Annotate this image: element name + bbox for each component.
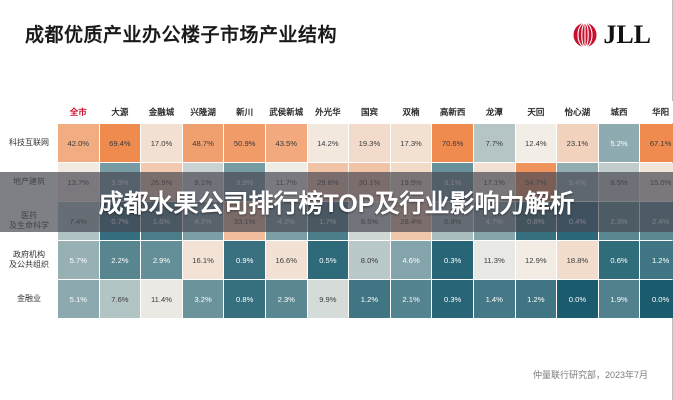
- heatmap-cell: 0.6%: [599, 241, 640, 279]
- heatmap-cell: 11.4%: [141, 280, 182, 318]
- heatmap-cell: 9.9%: [308, 280, 349, 318]
- overlay-banner-text: 成都水果公司排行榜TOP及行业影响力解析: [99, 184, 575, 220]
- heatmap-cell: 16.1%: [183, 241, 224, 279]
- column-header-12: 怡心湖: [557, 101, 598, 123]
- row-label-3: 政府机构及公共组织: [1, 241, 57, 279]
- heatmap-cell: 0.8%: [224, 280, 265, 318]
- table-header: 全市大源金融城兴隆湖新川武侯新城外光华国宾双楠高新西龙潭天回怡心湖城西华阳: [1, 101, 673, 123]
- source-note: 仲量联行研究部，2023年7月: [533, 368, 648, 381]
- heatmap-cell: 12.4%: [516, 124, 557, 162]
- heatmap-cell: 0.3%: [432, 280, 473, 318]
- heatmap-cell: 2.3%: [266, 280, 307, 318]
- heatmap-cell: 18.8%: [557, 241, 598, 279]
- heatmap-cell: 0.0%: [640, 280, 673, 318]
- table-row: 科技互联网42.0%69.4%17.0%48.7%50.9%43.5%14.2%…: [1, 124, 673, 162]
- jll-logo: JLL: [570, 20, 651, 50]
- heatmap-cell: 11.3%: [474, 241, 515, 279]
- heatmap-cell: 17.0%: [141, 124, 182, 162]
- heatmap-cell: 2.9%: [141, 241, 182, 279]
- column-header-13: 城西: [599, 101, 640, 123]
- jll-logo-text: JLL: [603, 22, 651, 48]
- heatmap-cell: 19.3%: [349, 124, 390, 162]
- heatmap-cell: 7.6%: [100, 280, 141, 318]
- card-header: 成都优质产业办公楼子市场产业结构 JLL: [0, 0, 673, 72]
- column-header-8: 双楠: [391, 101, 432, 123]
- heatmap-cell: 17.3%: [391, 124, 432, 162]
- heatmap-cell: 69.4%: [100, 124, 141, 162]
- heatmap-cell: 42.0%: [58, 124, 99, 162]
- heatmap-cell: 5.7%: [58, 241, 99, 279]
- heatmap-cell: 0.0%: [557, 280, 598, 318]
- heatmap-cell: 50.9%: [224, 124, 265, 162]
- column-header-6: 外光华: [308, 101, 349, 123]
- heatmap-cell: 48.7%: [183, 124, 224, 162]
- column-header-0: 全市: [58, 101, 99, 123]
- heatmap-cell: 1.2%: [640, 241, 673, 279]
- heatmap-cell: 1.4%: [474, 280, 515, 318]
- table-row: 政府机构及公共组织5.7%2.2%2.9%16.1%0.9%16.6%0.5%8…: [1, 241, 673, 279]
- heatmap-cell: 7.7%: [474, 124, 515, 162]
- heatmap-cell: 5.1%: [58, 280, 99, 318]
- row-label-0: 科技互联网: [1, 124, 57, 162]
- heatmap-cell: 70.6%: [432, 124, 473, 162]
- column-header-3: 兴隆湖: [183, 101, 224, 123]
- column-header-4: 新川: [224, 101, 265, 123]
- page-title: 成都优质产业办公楼子市场产业结构: [25, 20, 337, 47]
- column-header-10: 龙潭: [474, 101, 515, 123]
- heatmap-cell: 12.9%: [516, 241, 557, 279]
- heatmap-cell: 43.5%: [266, 124, 307, 162]
- heatmap-cell: 1.2%: [349, 280, 390, 318]
- column-header-row: 全市大源金融城兴隆湖新川武侯新城外光华国宾双楠高新西龙潭天回怡心湖城西华阳: [1, 101, 673, 123]
- table-corner-cell: [1, 101, 57, 123]
- heatmap-cell: 0.9%: [224, 241, 265, 279]
- column-header-7: 国宾: [349, 101, 390, 123]
- table-row: 金融业5.1%7.6%11.4%3.2%0.8%2.3%9.9%1.2%2.1%…: [1, 280, 673, 318]
- row-label-4: 金融业: [1, 280, 57, 318]
- column-header-11: 天回: [516, 101, 557, 123]
- heatmap-cell: 0.5%: [308, 241, 349, 279]
- heatmap-cell: 3.2%: [183, 280, 224, 318]
- jll-globe-icon: [570, 20, 600, 50]
- heatmap-cell: 0.3%: [432, 241, 473, 279]
- overlay-banner: 成都水果公司排行榜TOP及行业影响力解析: [0, 172, 673, 232]
- heatmap-cell: 1.9%: [599, 280, 640, 318]
- column-header-2: 金融城: [141, 101, 182, 123]
- heatmap-cell: 16.6%: [266, 241, 307, 279]
- heatmap-cell: 67.1%: [640, 124, 673, 162]
- heatmap-cell: 2.1%: [391, 280, 432, 318]
- heatmap-cell: 1.2%: [516, 280, 557, 318]
- column-header-14: 华阳: [640, 101, 673, 123]
- heatmap-cell: 8.0%: [349, 241, 390, 279]
- heatmap-cell: 14.2%: [308, 124, 349, 162]
- column-header-5: 武侯新城: [266, 101, 307, 123]
- chart-card: 成都优质产业办公楼子市场产业结构 JLL 全市大源金融城兴隆湖新川武侯新城外光华…: [0, 0, 673, 400]
- heatmap-cell: 23.1%: [557, 124, 598, 162]
- heatmap-cell: 2.2%: [100, 241, 141, 279]
- heatmap-cell: 5.2%: [599, 124, 640, 162]
- heatmap-cell: 4.6%: [391, 241, 432, 279]
- column-header-9: 高新西: [432, 101, 473, 123]
- column-header-1: 大源: [100, 101, 141, 123]
